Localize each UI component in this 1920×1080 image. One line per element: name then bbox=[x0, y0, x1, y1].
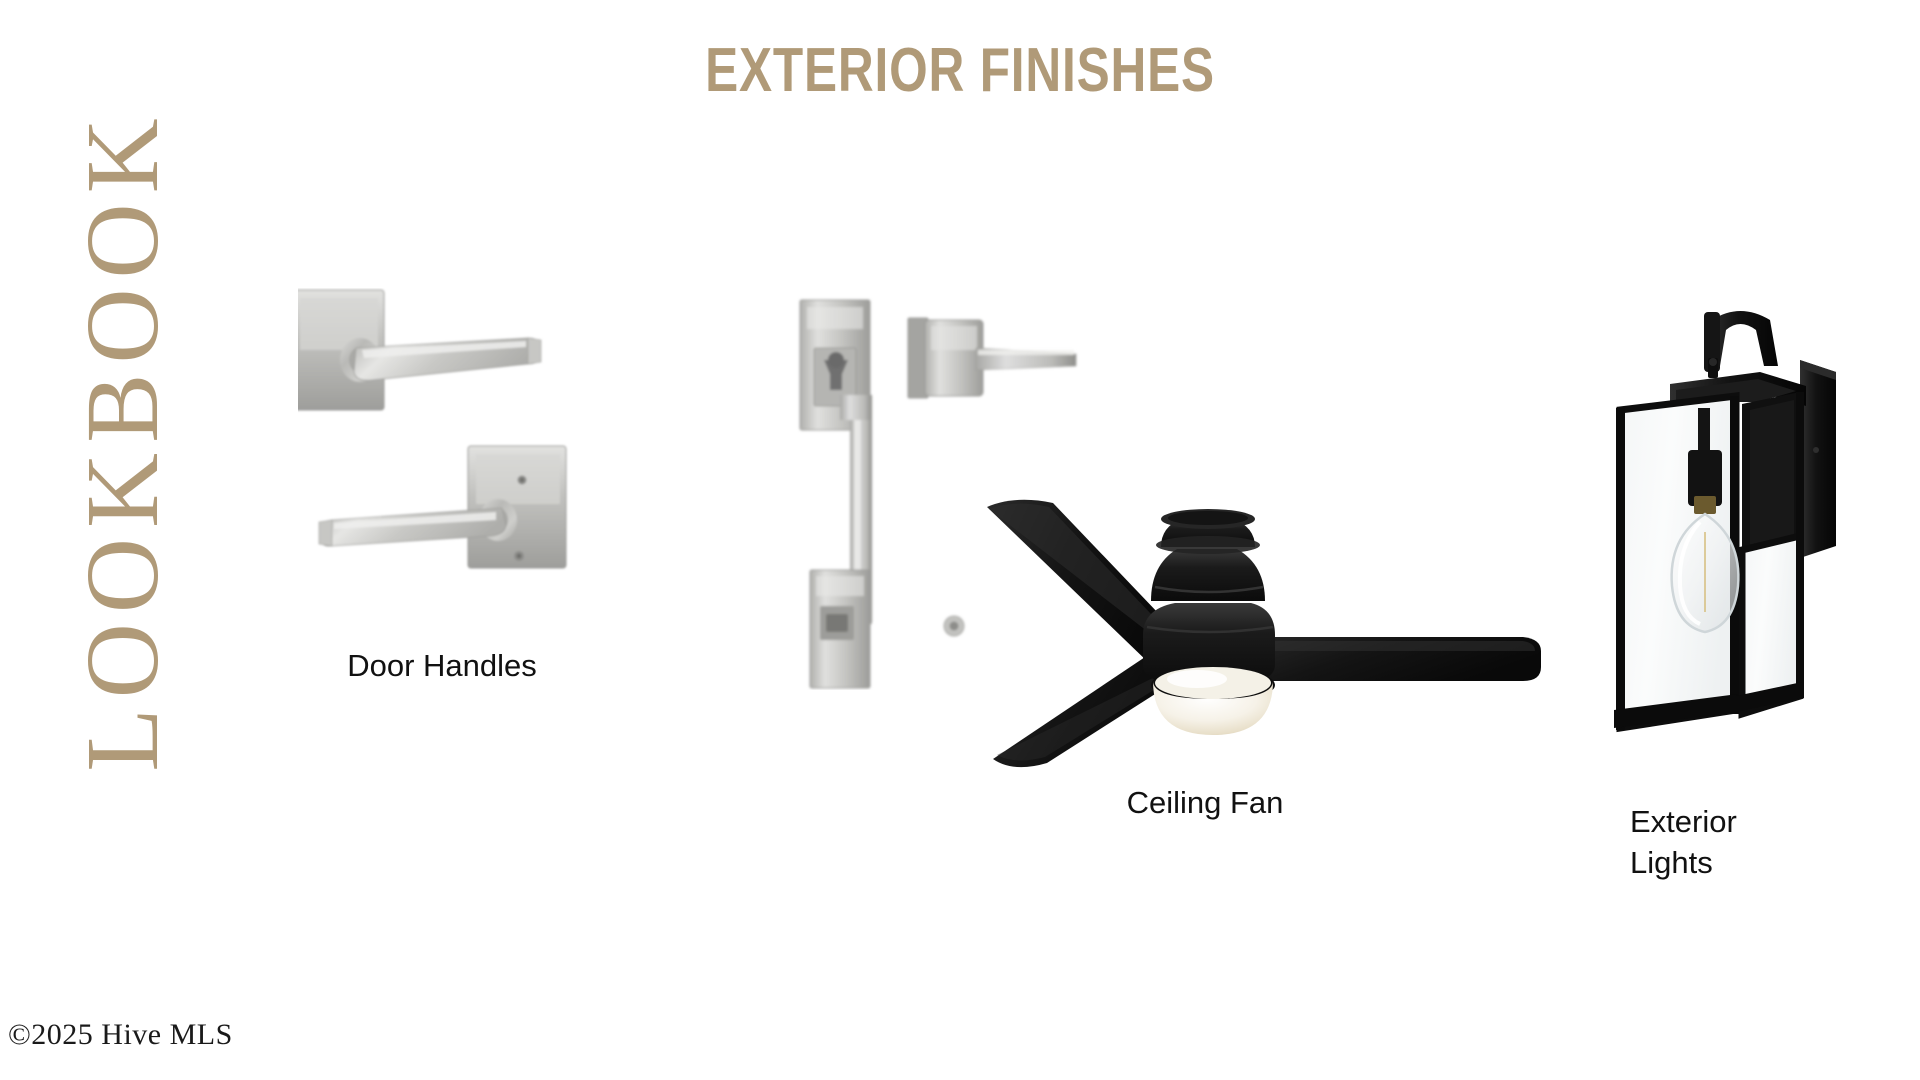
product-exterior-lights: Exterior Lights bbox=[1600, 300, 1880, 884]
product-ceiling-fan: Ceiling Fan bbox=[975, 487, 1545, 824]
product-label-exterior-lights: Exterior Lights bbox=[1630, 802, 1840, 884]
ceiling-fan-image bbox=[975, 487, 1545, 777]
exterior-light-image bbox=[1600, 300, 1860, 790]
copyright-notice: ©2025 Hive MLS bbox=[8, 1018, 233, 1052]
product-label-door-handles: Door Handles bbox=[298, 646, 586, 687]
lookbook-wordmark: LOOKBOOK bbox=[58, 100, 188, 780]
door-handles-image bbox=[298, 288, 628, 638]
page-title: EXTERIOR FINISHES bbox=[192, 38, 1728, 103]
product-label-ceiling-fan: Ceiling Fan bbox=[1025, 783, 1385, 824]
product-door-handles: Door Handles bbox=[298, 288, 628, 687]
lookbook-page: EXTERIOR FINISHES LOOKBOOK bbox=[0, 0, 1920, 1080]
lookbook-wordmark-text: LOOKBOOK bbox=[71, 108, 175, 772]
